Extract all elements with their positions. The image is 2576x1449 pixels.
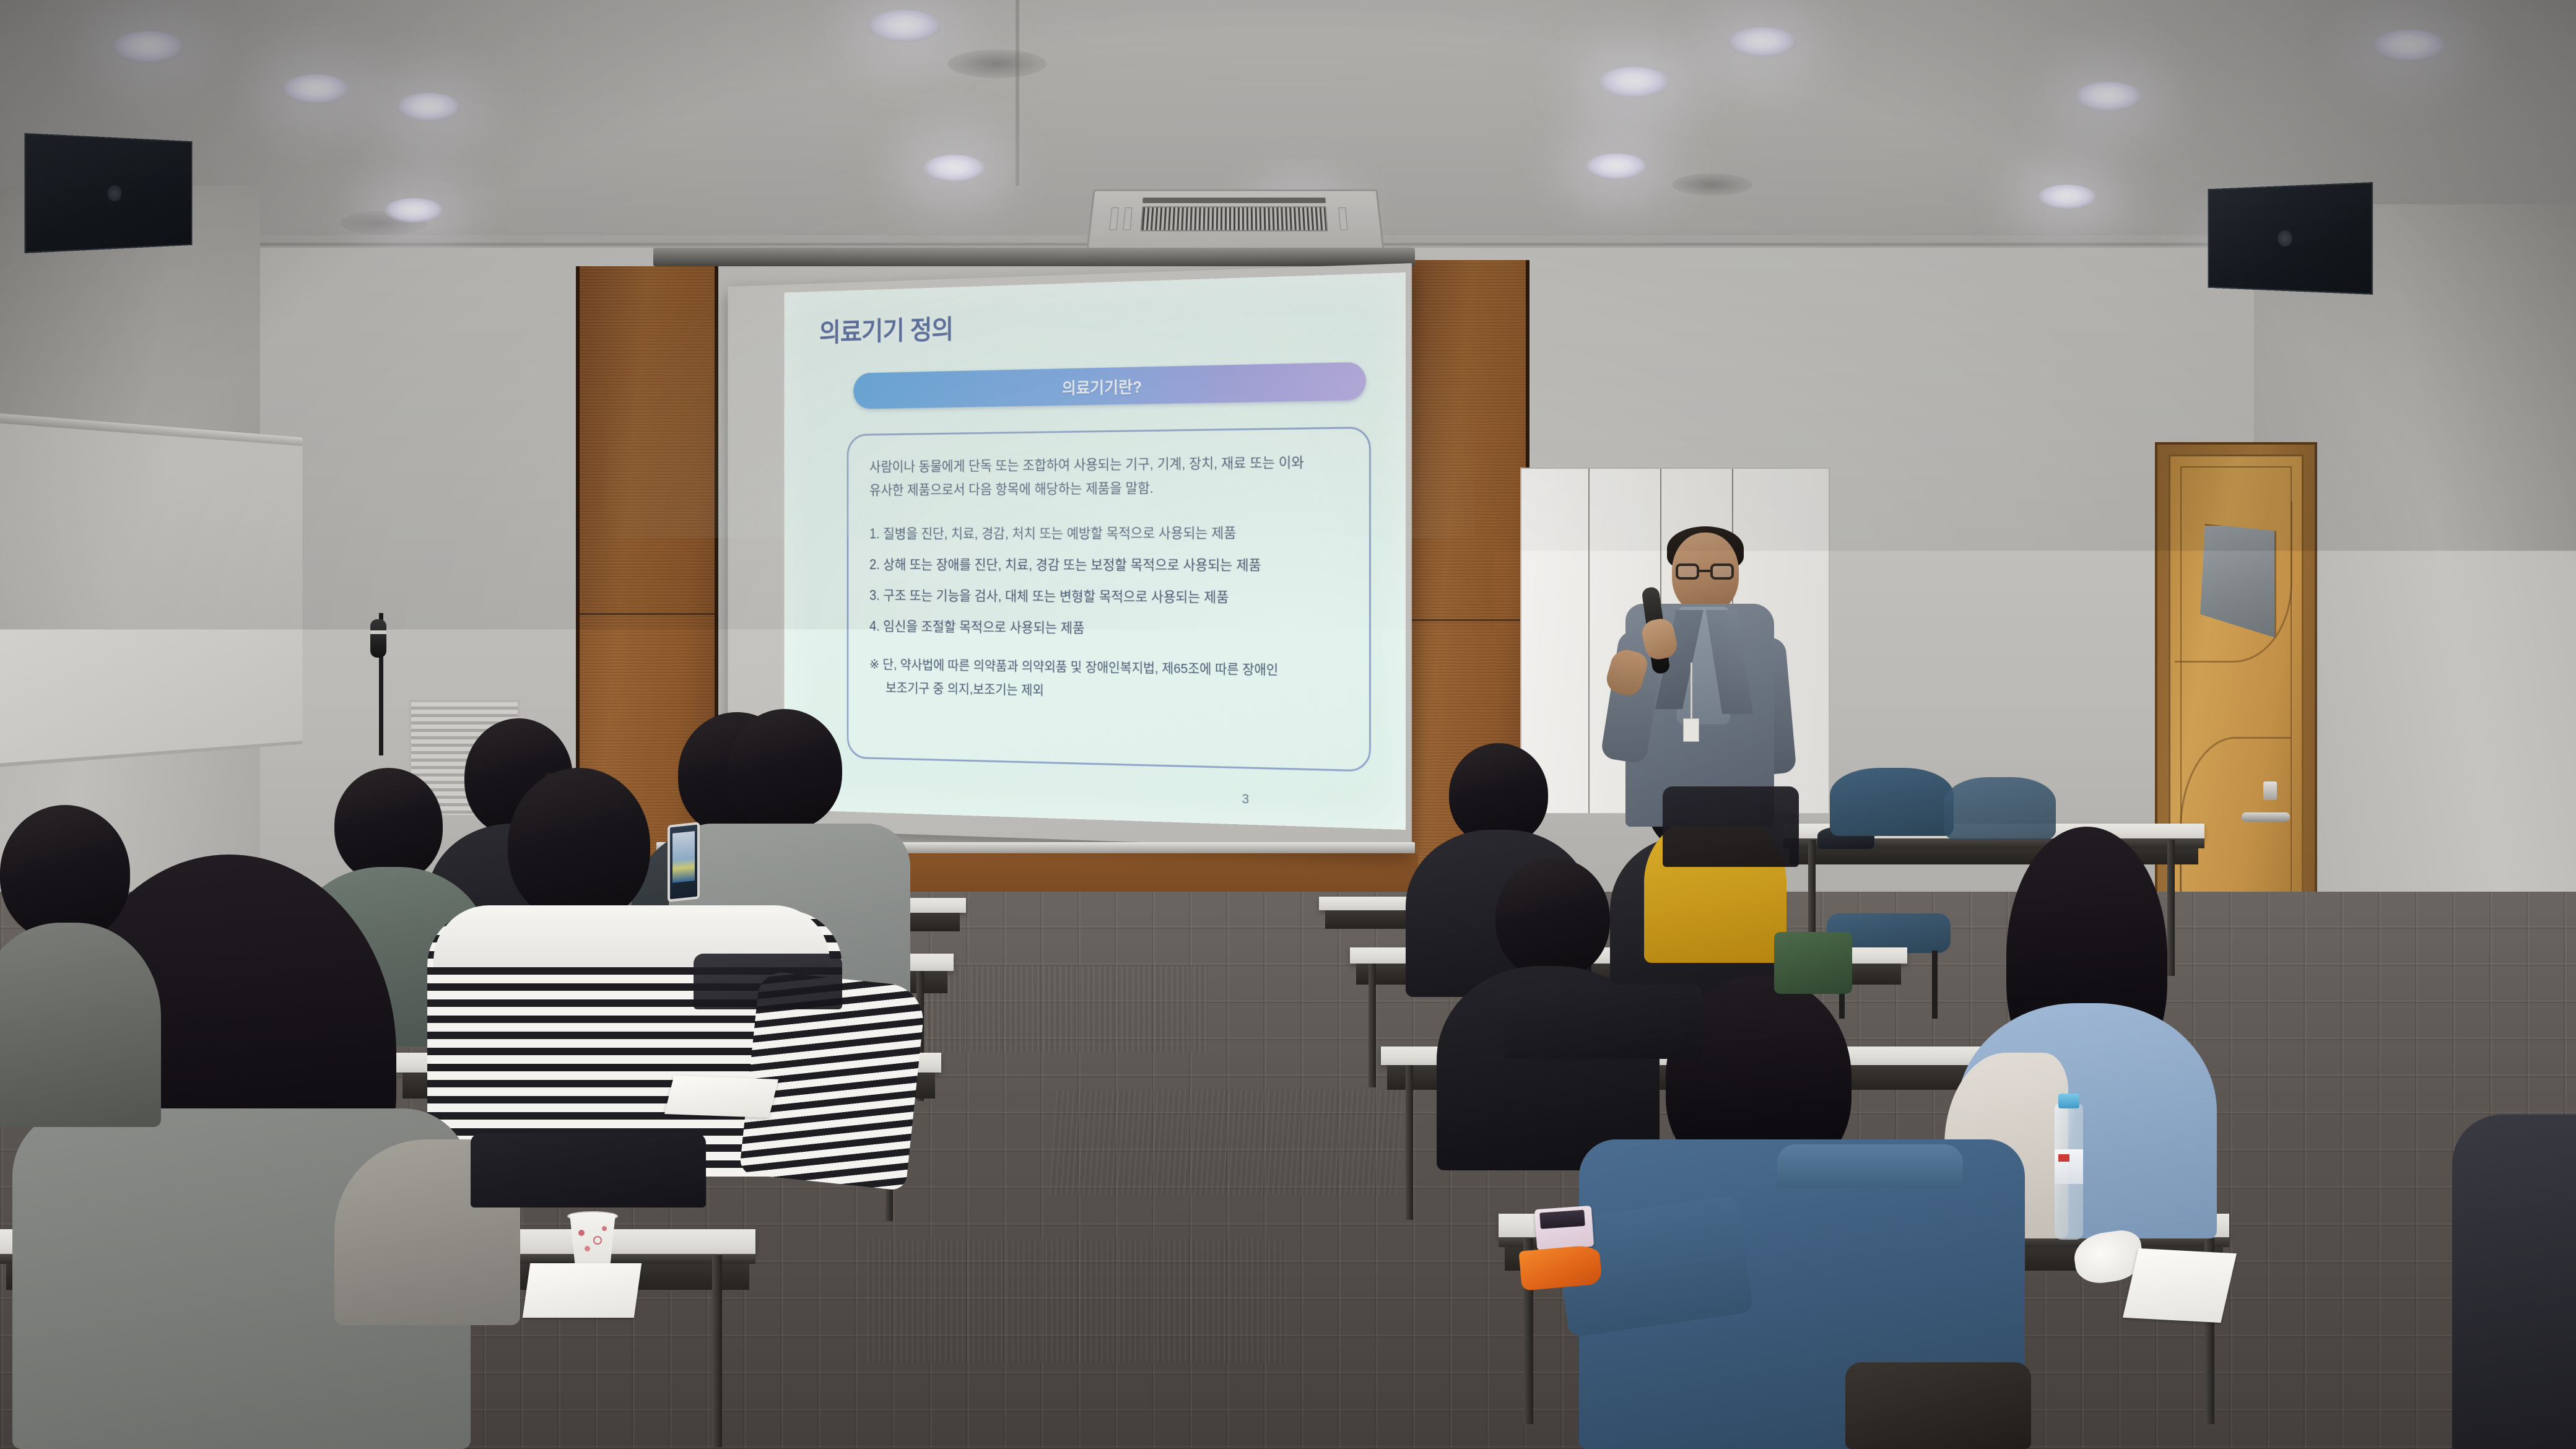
head [728, 709, 842, 830]
paper-sheet-right [2123, 1248, 2237, 1323]
cup-dot [578, 1230, 585, 1236]
flip-phone[interactable] [1534, 1206, 1594, 1250]
ac-vane [1123, 207, 1133, 230]
head [1495, 858, 1610, 978]
microphone-band [370, 630, 386, 634]
door-handle[interactable] [2242, 812, 2290, 822]
ceiling-light [396, 93, 461, 121]
bottle-cap [2058, 1094, 2079, 1108]
ceiling-light [282, 74, 350, 104]
chair-blue-back[interactable] [1830, 768, 1954, 836]
slide-paragraph-line2: 유사한 제품으로서 다음 항목에 해당하는 제품을 말함. [869, 474, 1354, 502]
ceiling-light [111, 31, 185, 63]
slide-list-item: 2. 상해 또는 장애를 진단, 치료, 경감 또는 보정할 목적으로 사용되는… [869, 553, 1354, 578]
cup-dot [593, 1236, 602, 1245]
glasses-lens-left [1676, 563, 1699, 580]
presentation-slide: 의료기기 정의 의료기기란? 사람이나 동물에게 단독 또는 조합하여 사용되는… [785, 272, 1406, 830]
chair-leg [1932, 951, 1938, 1019]
denim-collar [1777, 1144, 1963, 1188]
desk-leg [712, 1255, 722, 1447]
ceiling-light [923, 155, 986, 182]
carpet-tile [1049, 1090, 1403, 1195]
microphone-icon[interactable] [370, 619, 386, 658]
slide-body: 사람이나 동물에게 단독 또는 조합하여 사용되는 기구, 기계, 장치, 재료… [869, 450, 1354, 651]
ac-vane [1109, 207, 1119, 230]
slide-paragraph: 사람이나 동물에게 단독 또는 조합하여 사용되는 기구, 기계, 장치, 재료… [869, 450, 1354, 502]
slide-title: 의료기기 정의 [819, 308, 953, 349]
ceiling-light [867, 10, 941, 42]
phone-screen [1539, 1210, 1585, 1229]
paper-sheet-left2 [664, 1076, 778, 1118]
chair-left-mid[interactable] [694, 954, 842, 1009]
ceiling-light [2037, 185, 2097, 209]
paper-sheet-left [523, 1263, 642, 1318]
slide-list-item: 1. 질병을 진단, 치료, 경감, 처치 또는 예방할 목적으로 사용되는 제… [869, 520, 1354, 546]
chair-left-foreground[interactable] [471, 1133, 706, 1207]
tablet-screen [672, 831, 695, 883]
chair-behind-presenter[interactable] [1663, 786, 1799, 867]
bottle-label [2055, 1149, 2083, 1184]
air-conditioner-unit [1086, 189, 1385, 252]
slide-item-list: 1. 질병을 진단, 치료, 경감, 처치 또는 예방할 목적으로 사용되는 제… [869, 520, 1354, 643]
orange-cloth [1518, 1244, 1602, 1290]
door-lock-icon[interactable] [2263, 781, 2277, 800]
ac-grille [1141, 206, 1328, 231]
presenter-name-badge [1683, 718, 1699, 742]
wood-seam [580, 613, 715, 615]
backpack [1845, 1362, 2031, 1449]
glasses-icon [1676, 563, 1734, 580]
head [508, 768, 650, 923]
slide-footnote-line1: ※ 단, 약사법에 따른 의약품과 의약외품 및 장애인복지법, 제65조에 따… [869, 657, 1278, 677]
ceiling-light [1728, 27, 1797, 57]
ceiling-light [384, 198, 443, 223]
ceiling-light [2074, 82, 2143, 111]
ac-slot [1142, 198, 1326, 203]
slide-page-number: 3 [1242, 791, 1249, 807]
ceiling-light [2372, 30, 2447, 62]
ceiling-light [1598, 67, 1669, 98]
green-bag [1774, 932, 1852, 994]
tablet-device[interactable] [668, 822, 700, 902]
slide-footnote: ※ 단, 약사법에 따른 의약품과 의약외품 및 장애인복지법, 제65조에 따… [869, 653, 1360, 708]
chair-right-foreground[interactable] [1505, 985, 1703, 1059]
cup-dot [602, 1226, 607, 1231]
slide-header-pill-label: 의료기기란? [1062, 374, 1142, 399]
speaker-cone [2278, 230, 2292, 246]
wall-speaker-left [25, 133, 193, 253]
glasses-lens-right [1710, 563, 1734, 580]
table-leg [2167, 840, 2175, 976]
wood-seam [1409, 619, 1526, 621]
whiteboard [0, 421, 302, 768]
head [334, 768, 443, 882]
torso [0, 923, 161, 1127]
slide-list-item: 4. 임신을 조절할 목적으로 사용되는 제품 [869, 614, 1354, 643]
desk-leg [1368, 964, 1376, 1087]
head [0, 805, 130, 941]
wall-speaker-right [2208, 182, 2373, 295]
ceiling-vent [947, 50, 1046, 78]
slide-header-pill: 의료기기란? [853, 362, 1366, 409]
seminar-room-photo: 의료기기 정의 의료기기란? 사람이나 동물에게 단독 또는 조합하여 사용되는… [0, 0, 2576, 1449]
ceiling-light [1585, 154, 1647, 180]
slide-paragraph-line1: 사람이나 동물에게 단독 또는 조합하여 사용되는 기구, 기계, 장치, 재료… [869, 450, 1354, 479]
desk-leg [1406, 1065, 1413, 1220]
carpet-tile [867, 1238, 1288, 1362]
chair-blue-far[interactable] [1944, 777, 2056, 839]
torso [2452, 1115, 2576, 1449]
presenter-lanyard [1690, 663, 1692, 720]
ac-vane [1338, 207, 1347, 230]
cabinet-divider [1588, 469, 1590, 813]
ceiling-seam-vertical [1016, 0, 1019, 186]
slide-list-item: 3. 구조 또는 기능을 검사, 대체 또는 변형할 목적으로 사용되는 제품 [869, 584, 1354, 611]
glasses-bridge [1699, 570, 1710, 572]
paper-cup [570, 1214, 616, 1267]
ceiling-vent [1672, 173, 1752, 196]
projection-screen-housing [653, 248, 1415, 266]
speaker-cone [107, 185, 121, 201]
cup-dot [585, 1246, 590, 1251]
bottle-label-mark [2058, 1154, 2069, 1162]
